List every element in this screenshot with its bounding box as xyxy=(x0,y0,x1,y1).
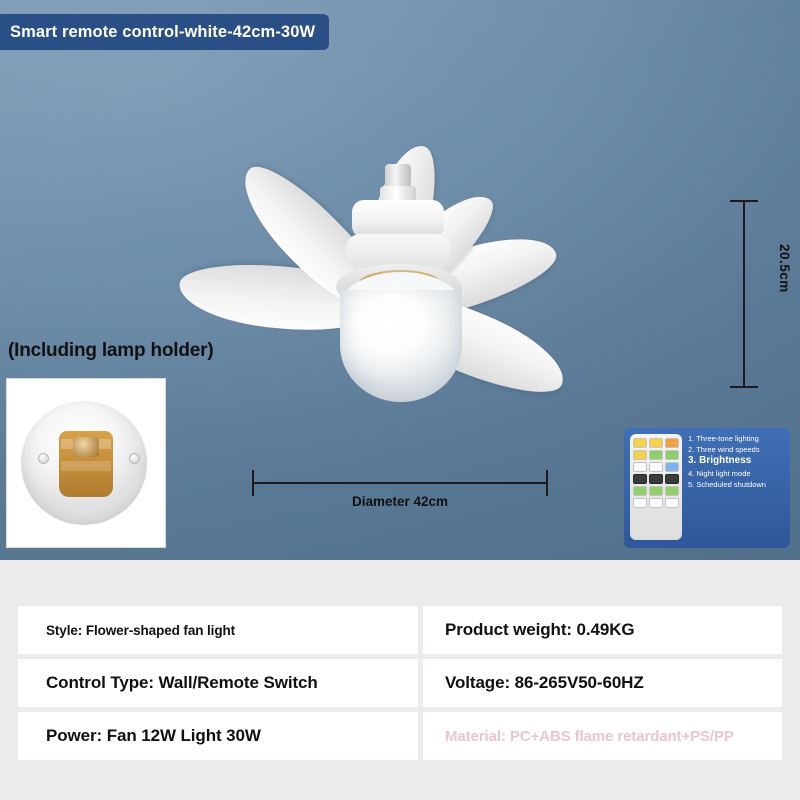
remote-button xyxy=(633,498,647,508)
remote-feature-item: 1. Three-tone lighting xyxy=(688,434,784,444)
remote-control-device xyxy=(630,434,682,540)
remote-button-row xyxy=(633,438,679,448)
lamp-holder-screw xyxy=(38,453,49,464)
remote-button-row xyxy=(633,486,679,496)
remote-button xyxy=(649,486,663,496)
fan-housing-top xyxy=(352,200,444,238)
spec-cell-voltage: Voltage: 86-265V50-60HZ xyxy=(423,659,782,707)
dimension-cap-top xyxy=(730,200,758,202)
lamp-holder-screw xyxy=(129,453,140,464)
variant-title-tag: Smart remote control-white-42cm-30W xyxy=(0,14,329,50)
height-dimension-label: 20.5cm xyxy=(777,244,792,293)
spec-control-type-text: Control Type: Wall/Remote Switch xyxy=(46,673,318,693)
remote-button xyxy=(649,498,663,508)
remote-button xyxy=(633,474,647,484)
remote-button xyxy=(649,450,663,460)
specification-table: Style: Flower-shaped fan light Product w… xyxy=(18,606,782,765)
spec-weight-text: Product weight: 0.49KG xyxy=(445,620,635,640)
remote-feature-item: 4. Night light mode xyxy=(688,469,784,479)
dimension-cap-right xyxy=(546,470,548,496)
table-row: Power: Fan 12W Light 30W Material: PC+AB… xyxy=(18,712,782,760)
remote-button xyxy=(649,474,663,484)
lamp-globe xyxy=(340,290,462,402)
spec-material-text: Material: PC+ABS flame retardant+PS/PP xyxy=(445,728,734,745)
remote-button-row xyxy=(633,462,679,472)
remote-feature-item: 3. Brightness xyxy=(688,455,784,468)
spec-cell-style: Style: Flower-shaped fan light xyxy=(18,606,418,654)
remote-button xyxy=(649,438,663,448)
remote-button xyxy=(665,438,679,448)
remote-feature-item: 2. Three wind speeds xyxy=(688,445,784,455)
remote-button xyxy=(633,438,647,448)
dimension-line-horizontal xyxy=(252,482,548,484)
remote-button xyxy=(665,450,679,460)
remote-button xyxy=(633,462,647,472)
spec-cell-control-type: Control Type: Wall/Remote Switch xyxy=(18,659,418,707)
variant-title-text: Smart remote control-white-42cm-30W xyxy=(10,23,315,42)
lamp-holder-inset xyxy=(6,378,166,548)
product-image-page: Smart remote control-white-42cm-30W 20.5 xyxy=(0,0,800,800)
remote-feature-item: 5. Scheduled shutdown xyxy=(688,480,784,490)
remote-button xyxy=(649,462,663,472)
dimension-cap-bottom xyxy=(730,386,758,388)
diameter-dimension-label: Diameter 42cm xyxy=(352,494,448,509)
lamp-holder-caption: (Including lamp holder) xyxy=(8,340,213,362)
height-dimension-line xyxy=(724,200,764,388)
remote-button xyxy=(665,462,679,472)
remote-button-row xyxy=(633,498,679,508)
dimension-cap-left xyxy=(252,470,254,496)
remote-button xyxy=(633,450,647,460)
remote-button-row xyxy=(633,450,679,460)
remote-button xyxy=(633,486,647,496)
fan-housing-middle xyxy=(346,234,450,268)
lamp-holder-contact xyxy=(73,437,99,457)
table-row: Control Type: Wall/Remote Switch Voltage… xyxy=(18,659,782,707)
spec-cell-power: Power: Fan 12W Light 30W xyxy=(18,712,418,760)
dimension-line-vertical xyxy=(743,200,745,388)
remote-button xyxy=(665,498,679,508)
product-photo: Smart remote control-white-42cm-30W 20.5 xyxy=(0,0,800,560)
ceiling-fan-light xyxy=(100,160,660,420)
remote-feature-list: 1. Three-tone lighting 2. Three wind spe… xyxy=(682,434,784,542)
spec-power-text: Power: Fan 12W Light 30W xyxy=(46,726,261,746)
remote-button xyxy=(665,474,679,484)
spec-style-text: Style: Flower-shaped fan light xyxy=(46,623,235,638)
table-row: Style: Flower-shaped fan light Product w… xyxy=(18,606,782,654)
spec-cell-material: Material: PC+ABS flame retardant+PS/PP xyxy=(423,712,782,760)
remote-button-row xyxy=(633,474,679,484)
specification-section: Style: Flower-shaped fan light Product w… xyxy=(0,560,800,800)
spec-cell-weight: Product weight: 0.49KG xyxy=(423,606,782,654)
diameter-dimension-line xyxy=(252,470,548,496)
spec-voltage-text: Voltage: 86-265V50-60HZ xyxy=(445,673,644,693)
remote-button xyxy=(665,486,679,496)
remote-feature-panel: 1. Three-tone lighting 2. Three wind spe… xyxy=(624,428,790,548)
